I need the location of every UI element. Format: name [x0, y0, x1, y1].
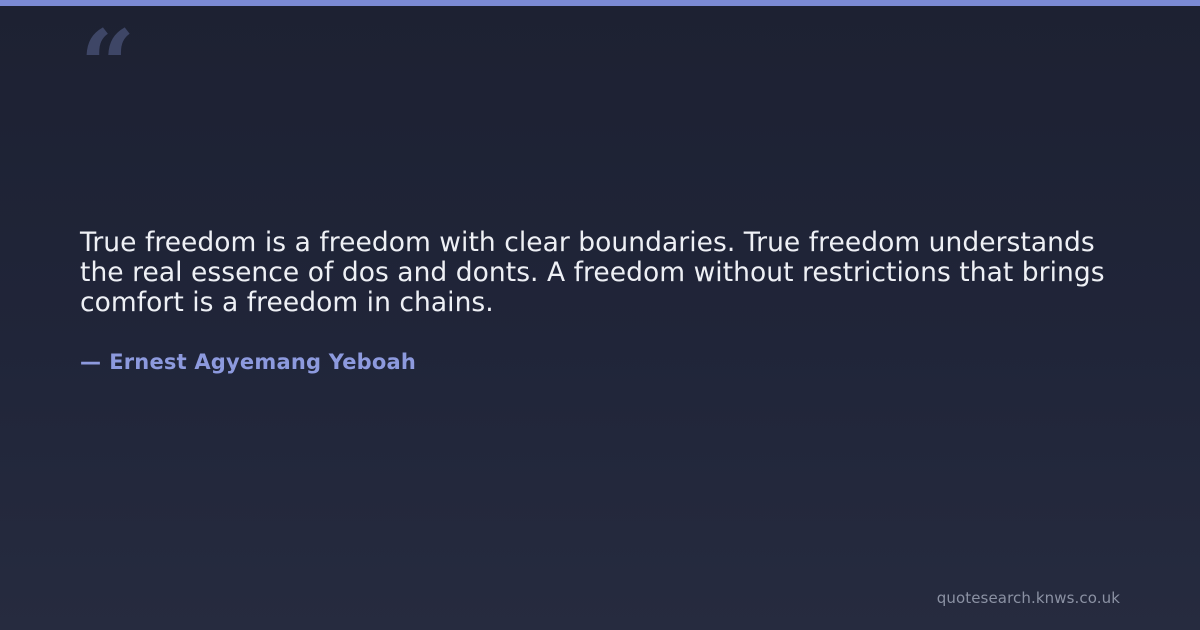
quote-content: “ True freedom is a freedom with clear b… — [80, 0, 1120, 630]
author-name: Ernest Agyemang Yeboah — [109, 350, 416, 374]
open-quote-icon: “ — [80, 18, 133, 114]
attribution-dash: — — [80, 350, 101, 374]
site-url: quotesearch.knws.co.uk — [937, 588, 1120, 608]
quote-card: “ True freedom is a freedom with clear b… — [0, 0, 1200, 630]
quote-text: True freedom is a freedom with clear bou… — [80, 228, 1110, 318]
quote-attribution: —Ernest Agyemang Yeboah — [80, 348, 416, 376]
quote-body: True freedom is a freedom with clear bou… — [80, 228, 1110, 318]
